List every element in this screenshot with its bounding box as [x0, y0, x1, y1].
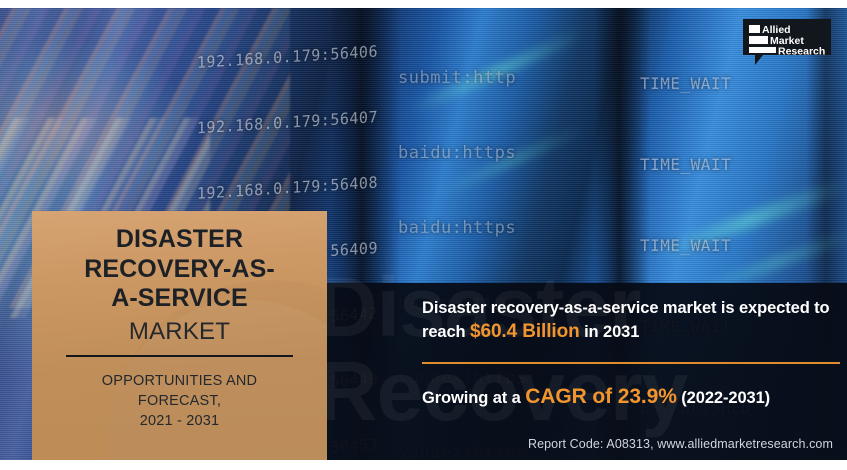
- code-line: 192.168.0.179:56406: [128, 41, 378, 79]
- market-report-banner: 192.168.0.179:56406 192.168.0.179:56407 …: [0, 0, 847, 470]
- code-line: TIME_WAIT: [640, 151, 751, 178]
- title-card: DISASTER RECOVERY-AS- A-SERVICE MARKET O…: [32, 211, 327, 460]
- allied-market-research-logo[interactable]: Allied Market Research: [741, 17, 833, 65]
- code-line: 192.168.0.179:56408: [128, 172, 378, 210]
- code-line: submit:http: [398, 66, 527, 91]
- code-line: baidu:https: [398, 141, 527, 166]
- code-line: 192.168.0.179:56407: [128, 106, 378, 144]
- stat1-suffix: in 2031: [580, 323, 640, 341]
- stat1-value: $60.4 Billion: [470, 321, 580, 342]
- code-line: TIME_WAIT: [640, 70, 751, 97]
- statistics-copy: Disaster recovery-as-a-service market is…: [422, 296, 842, 410]
- stat2-value: CAGR of 23.9%: [525, 385, 677, 408]
- card-title-line-3: A-SERVICE: [48, 284, 311, 314]
- code-line: TIME_WAIT: [640, 232, 751, 259]
- stat2-prefix: Growing at a: [422, 389, 525, 407]
- card-title-line-1: DISASTER: [48, 225, 311, 255]
- logo-text-research: Research: [778, 46, 825, 58]
- card-subtitle: MARKET: [48, 315, 311, 349]
- code-line: baidu:https: [398, 216, 527, 241]
- stat-line-2: Growing at a CAGR of 23.9% (2022-2031): [422, 385, 842, 410]
- report-code-line: Report Code: A08313, www.alliedmarketres…: [410, 437, 840, 451]
- logo-icon: Allied Market Research: [741, 17, 833, 65]
- copy-divider: [422, 362, 840, 364]
- card-footer-line-2: FORECAST,: [48, 391, 311, 411]
- frame-top: [0, 0, 847, 8]
- stat-line-1: Disaster recovery-as-a-service market is…: [422, 296, 842, 344]
- card-footer-line-1: OPPORTUNITIES AND: [48, 371, 311, 391]
- card-footer-line-3: 2021 - 2031: [48, 411, 311, 431]
- frame-bottom: [0, 460, 847, 470]
- card-divider: [66, 355, 293, 357]
- stat2-suffix: (2022-2031): [677, 389, 770, 407]
- card-title-line-2: RECOVERY-AS-: [48, 255, 311, 285]
